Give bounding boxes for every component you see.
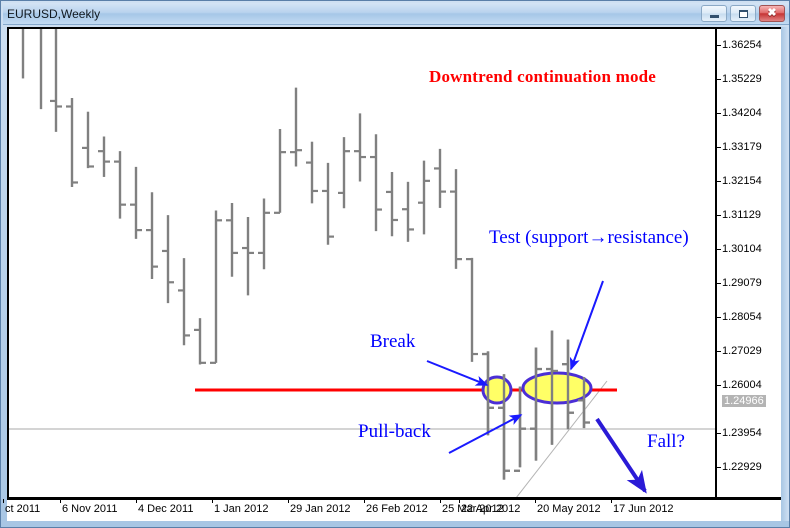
tick-mark bbox=[717, 351, 721, 352]
window-title: EURUSD,Weekly bbox=[3, 7, 100, 21]
price-tick: 1.23954 bbox=[717, 427, 762, 439]
ohlc-bar bbox=[114, 151, 126, 219]
price-tick-label: 1.34204 bbox=[722, 107, 762, 119]
price-tick: 1.34204 bbox=[717, 107, 762, 119]
ohlc-bar bbox=[354, 113, 366, 181]
ohlc-bar bbox=[242, 217, 254, 295]
ohlc-bar bbox=[386, 172, 398, 236]
time-tick-label: 17 Jun 2012 bbox=[613, 503, 674, 515]
ohlc-bar bbox=[418, 161, 430, 235]
price-scale-ticks: 1.362541.352291.342041.331791.321541.311… bbox=[717, 29, 781, 497]
price-tick-label: 1.33179 bbox=[722, 141, 762, 153]
time-tick-label: 20 May 2012 bbox=[537, 503, 601, 515]
annotation-fall: Fall? bbox=[647, 431, 685, 453]
ohlc-bar bbox=[450, 169, 462, 269]
tick-mark bbox=[717, 467, 721, 468]
pullback-arrow bbox=[449, 415, 521, 453]
price-tick-label: 1.36254 bbox=[722, 39, 762, 51]
ohlc-bar bbox=[306, 142, 318, 204]
tick-mark bbox=[717, 79, 721, 80]
ohlc-bar bbox=[130, 167, 142, 239]
annotation-break: Break bbox=[370, 331, 415, 353]
maximize-button[interactable] bbox=[730, 5, 756, 22]
price-tick-label: 1.24966 bbox=[722, 395, 766, 407]
ohlc-bar bbox=[466, 258, 478, 362]
time-tick-label: 1 Jan 2012 bbox=[214, 503, 268, 515]
ohlc-bar bbox=[66, 98, 78, 187]
price-scale[interactable]: 1.362541.352291.342041.331791.321541.311… bbox=[715, 27, 781, 499]
time-scale[interactable]: ct 20116 Nov 20114 Dec 20111 Jan 201229 … bbox=[7, 499, 781, 521]
tick-mark bbox=[717, 45, 721, 46]
price-tick-label: 1.28054 bbox=[722, 311, 762, 323]
ohlc-bar bbox=[194, 318, 206, 364]
ohlc-bar bbox=[530, 348, 542, 461]
annotation-downtrend-note: Downtrend continuation mode bbox=[429, 67, 656, 87]
tick-mark bbox=[717, 215, 721, 216]
annotation-test: Test (support→resistance) bbox=[489, 227, 689, 249]
window-edge-filler bbox=[781, 27, 789, 521]
ohlc-bar bbox=[210, 211, 222, 363]
ohlc-bars-overlay bbox=[482, 331, 590, 480]
tick-mark bbox=[717, 433, 721, 434]
time-tick-label: 4 Dec 2011 bbox=[138, 503, 193, 515]
tick-mark bbox=[717, 147, 721, 148]
ohlc-bar bbox=[50, 29, 62, 132]
ohlc-bar bbox=[370, 134, 382, 231]
ohlc-bar bbox=[98, 136, 110, 176]
tick-mark bbox=[717, 113, 721, 114]
tick-mark bbox=[717, 283, 721, 284]
tick-mark bbox=[717, 317, 721, 318]
tick-mark bbox=[717, 385, 721, 386]
mt4-chart-window: EURUSD,Weekly ✖ bbox=[0, 0, 790, 528]
ohlc-bar bbox=[290, 88, 302, 167]
time-tick-label: 22 Apr 2012 bbox=[461, 503, 520, 515]
price-tick: 1.31129 bbox=[717, 209, 761, 221]
ohlc-bar bbox=[338, 137, 350, 208]
fall-arrow bbox=[597, 419, 645, 491]
minimize-button[interactable] bbox=[701, 5, 727, 22]
price-tick: 1.30104 bbox=[717, 243, 762, 255]
price-tick-label: 1.32154 bbox=[722, 175, 762, 187]
price-tick-label: 1.27029 bbox=[722, 345, 762, 357]
price-tick: 1.36254 bbox=[717, 39, 762, 51]
price-tick: 1.33179 bbox=[717, 141, 762, 153]
tick-mark bbox=[717, 401, 721, 402]
time-tick-label: 26 Feb 2012 bbox=[366, 503, 428, 515]
ohlc-bar bbox=[322, 163, 334, 245]
retest-highlight-marker bbox=[523, 373, 591, 403]
break-arrow bbox=[427, 361, 487, 385]
price-tick: 1.35229 bbox=[717, 73, 762, 85]
maximize-icon bbox=[739, 10, 748, 18]
price-tick-label: 1.30104 bbox=[722, 243, 762, 255]
ohlc-bar bbox=[274, 129, 286, 213]
price-tick: 1.29079 bbox=[717, 277, 762, 289]
ohlc-bar bbox=[82, 112, 94, 168]
price-tick-label: 1.35229 bbox=[722, 73, 762, 85]
ohlc-bar bbox=[434, 149, 446, 208]
time-tick-label: ct 2011 bbox=[5, 503, 40, 515]
price-tick-label: 1.31129 bbox=[722, 209, 761, 221]
close-button[interactable]: ✖ bbox=[759, 5, 785, 22]
price-tick: 1.28054 bbox=[717, 311, 762, 323]
price-tick-label: 1.23954 bbox=[722, 427, 762, 439]
current-price-label: 1.24966 bbox=[717, 395, 766, 407]
ohlc-bar bbox=[258, 198, 270, 269]
price-tick-label: 1.26004 bbox=[722, 379, 762, 391]
window-titlebar: EURUSD,Weekly ✖ bbox=[3, 3, 789, 25]
time-tick-label: 29 Jan 2012 bbox=[290, 503, 351, 515]
annotation-pullback: Pull-back bbox=[358, 421, 431, 443]
price-tick: 1.22929 bbox=[717, 461, 762, 473]
price-tick: 1.27029 bbox=[717, 345, 762, 357]
price-tick-label: 1.29079 bbox=[722, 277, 762, 289]
ohlc-bar bbox=[178, 258, 190, 345]
tick-mark bbox=[717, 249, 721, 250]
minimize-icon bbox=[710, 15, 719, 18]
price-tick: 1.32154 bbox=[717, 175, 762, 187]
ohlc-bar bbox=[162, 215, 174, 303]
price-tick-label: 1.22929 bbox=[722, 461, 762, 473]
time-tick-label: 6 Nov 2011 bbox=[62, 503, 117, 515]
test-arrow bbox=[571, 281, 603, 369]
window-controls: ✖ bbox=[701, 5, 785, 22]
ohlc-bar bbox=[146, 192, 158, 279]
ohlc-bar bbox=[402, 182, 414, 242]
ohlc-bar bbox=[226, 203, 238, 277]
price-tick: 1.26004 bbox=[717, 379, 762, 391]
tick-mark bbox=[717, 181, 721, 182]
close-icon: ✖ bbox=[767, 8, 776, 19]
